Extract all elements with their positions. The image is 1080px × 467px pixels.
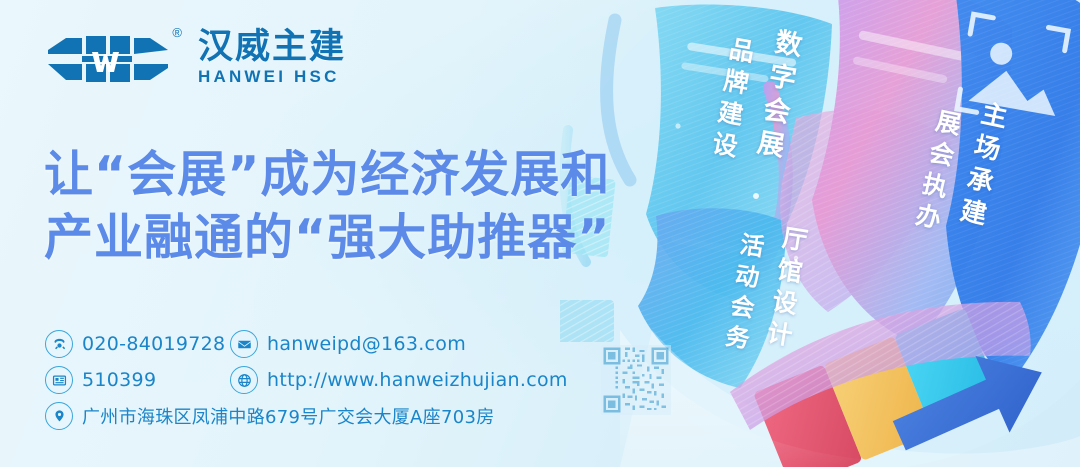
headline-line-1: 让“会展”成为经济发展和 xyxy=(44,144,610,207)
logo-chinese-name: 汉威主建 xyxy=(198,29,346,65)
phone-number: 020-84019728 xyxy=(82,333,225,355)
website-url: http://www.hanweizhujian.com xyxy=(267,369,568,391)
telephone-icon xyxy=(45,330,73,358)
fax-card-icon xyxy=(45,366,73,394)
contact-postcode: 510399 xyxy=(45,366,230,394)
contact-website[interactable]: http://www.hanweizhujian.com xyxy=(230,366,568,394)
contact-address: 广州市海珠区凤浦中路679号广交会大厦A座703房 xyxy=(45,402,495,430)
contact-email[interactable]: hanweipd@163.com xyxy=(230,330,466,358)
registered-trademark-icon: ® xyxy=(172,26,182,39)
logo-mark-icon: ® xyxy=(46,28,168,90)
contact-row-address: 广州市海珠区凤浦中路679号广交会大厦A座703房 xyxy=(45,398,568,434)
globe-icon xyxy=(230,366,258,394)
contact-row-phone-email: 020-84019728 hanweipd@163.com xyxy=(45,326,568,362)
company-logo: ® 汉威主建 HANWEI HSC xyxy=(46,28,346,90)
email-address: hanweipd@163.com xyxy=(267,333,466,355)
contact-phone[interactable]: 020-84019728 xyxy=(45,330,230,358)
contact-row-postcode-website: 510399 http://www.hanweizhujian.com xyxy=(45,362,568,398)
location-pin-icon xyxy=(45,402,73,430)
content-pane: ® 汉威主建 HANWEI HSC 让“会展”成为经济发展和 产业融通的“强大助… xyxy=(0,0,640,467)
contact-info: 020-84019728 hanweipd@163.com xyxy=(45,326,568,434)
envelope-icon xyxy=(230,330,258,358)
headline-line-2: 产业融通的“强大助推器” xyxy=(44,207,610,270)
logo-english-name: HANWEI HSC xyxy=(198,67,346,87)
street-address: 广州市海珠区凤浦中路679号广交会大厦A座703房 xyxy=(82,403,495,429)
logo-wordmark: 汉威主建 HANWEI HSC xyxy=(198,29,346,90)
postal-code: 510399 xyxy=(82,369,156,391)
promotional-banner: 品牌建设 数字会展 活动会务 厅馆设计 展会执办 主场承建 xyxy=(0,0,1080,467)
page-title: 让“会展”成为经济发展和 产业融通的“强大助推器” xyxy=(44,144,610,269)
